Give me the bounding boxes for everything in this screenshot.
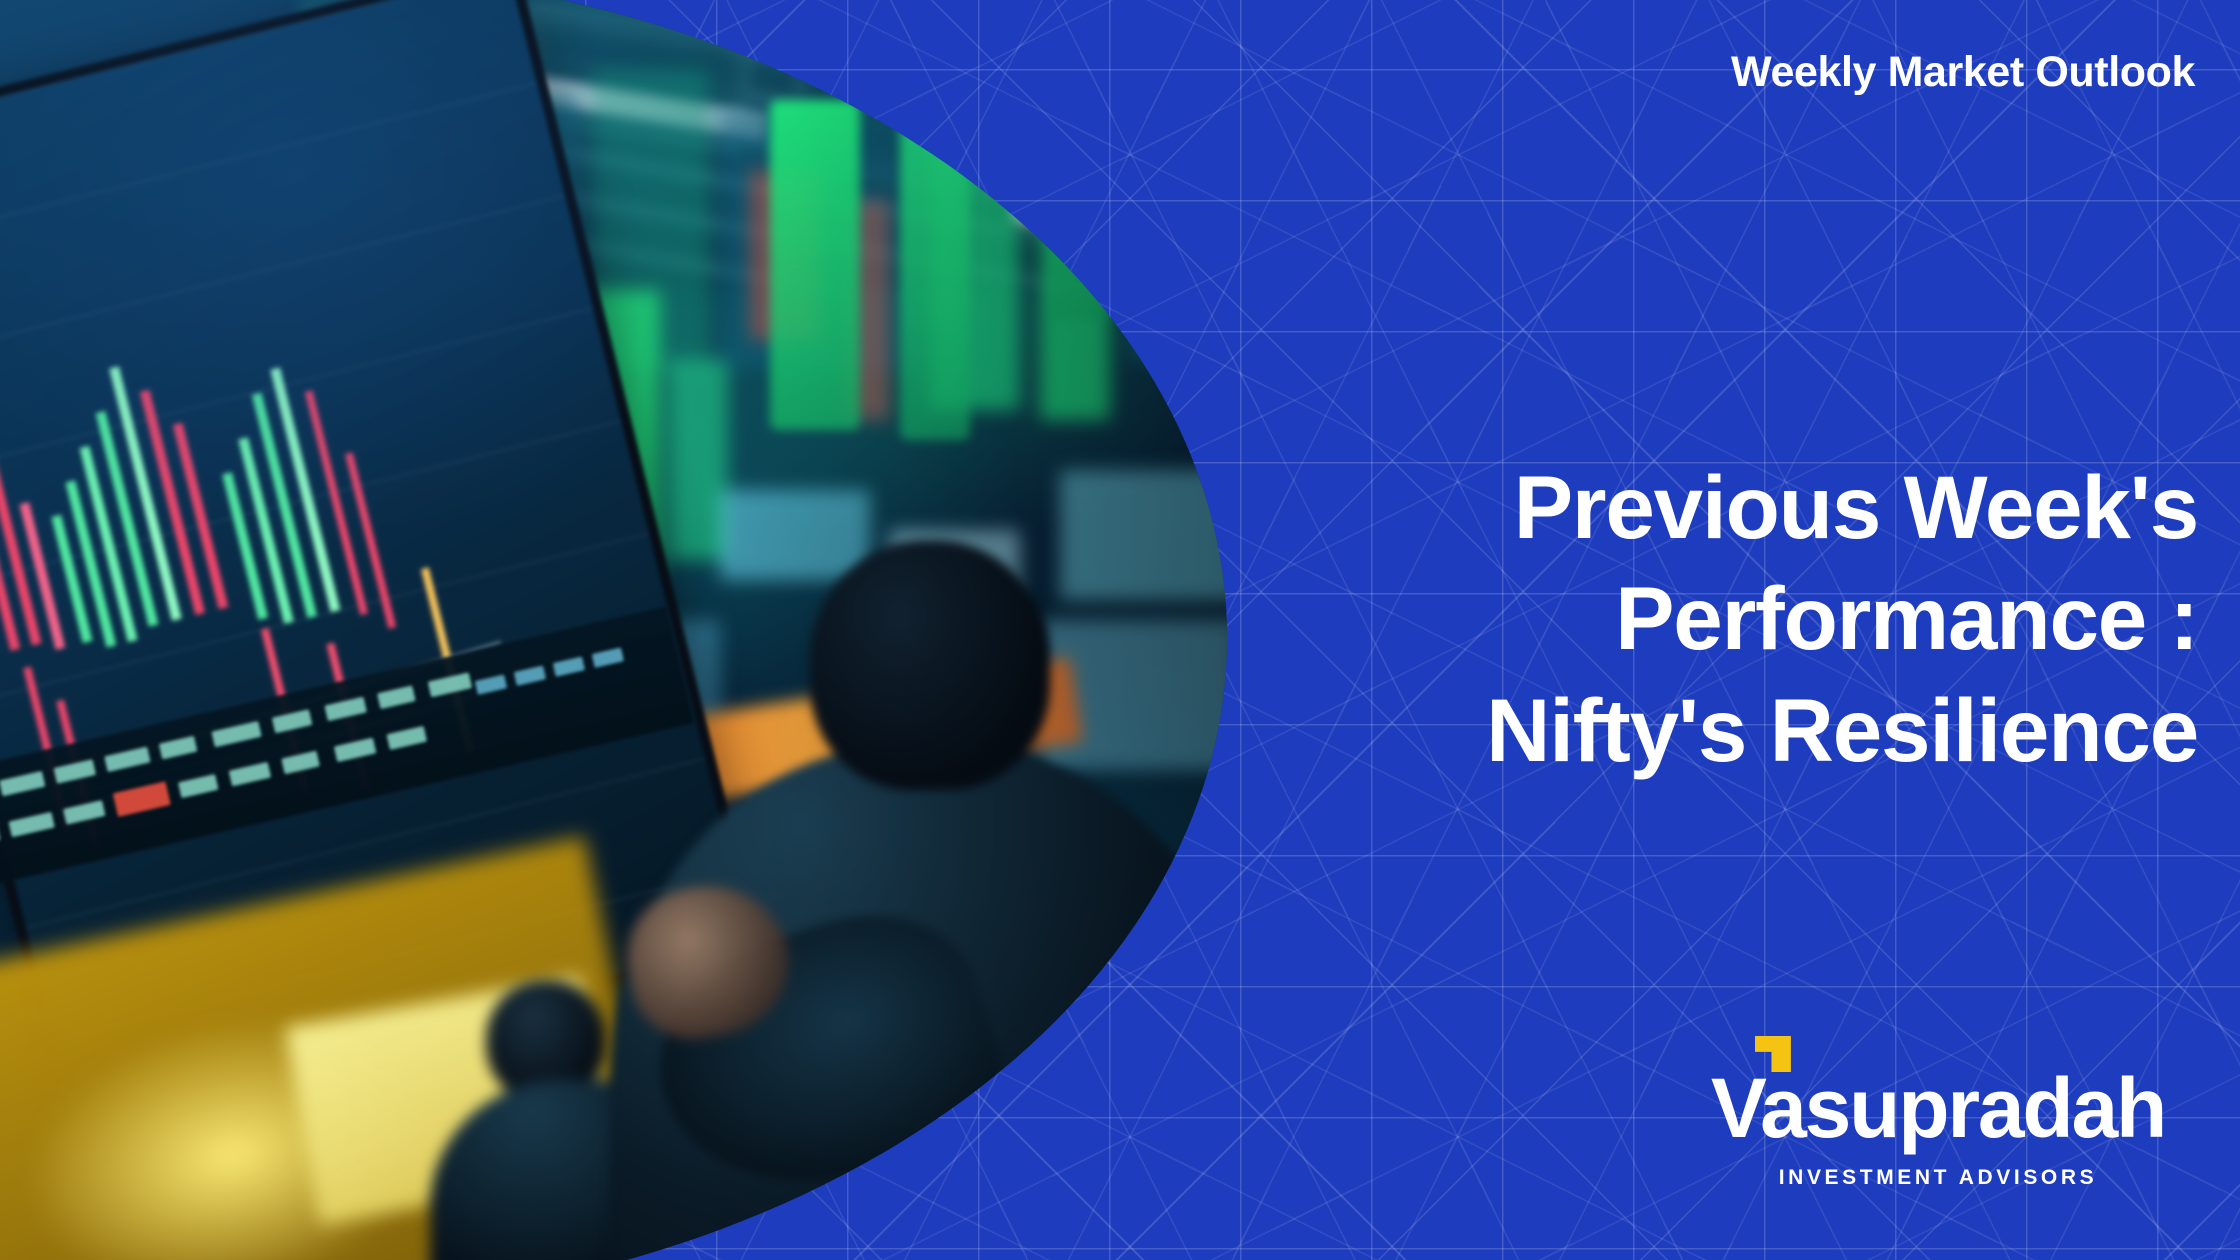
hero-photo <box>0 0 1240 1260</box>
eyebrow-label: Weekly Market Outlook <box>1731 48 2195 97</box>
page-title-line-1: Previous Week's <box>1098 452 2198 563</box>
brand-wordmark-wrap: Vasupradah <box>1711 1066 2165 1150</box>
hero-photo-content <box>0 0 1227 1260</box>
slide-canvas: Weekly Market Outlook Previous Week's Pe… <box>0 0 2240 1260</box>
brand-wordmark: Vasupradah <box>1711 1061 2165 1155</box>
page-title: Previous Week's Performance : Nifty's Re… <box>1098 452 2198 786</box>
page-title-line-3: Nifty's Resilience <box>1098 675 2198 786</box>
brand-logo: Vasupradah INVESTMENT ADVISORS <box>1678 1066 2198 1190</box>
page-title-line-2: Performance : <box>1098 563 2198 674</box>
hero-photo-circle-mask <box>0 0 1227 1260</box>
brand-tagline: INVESTMENT ADVISORS <box>1678 1166 2198 1190</box>
photo-vignette <box>0 0 1227 1260</box>
